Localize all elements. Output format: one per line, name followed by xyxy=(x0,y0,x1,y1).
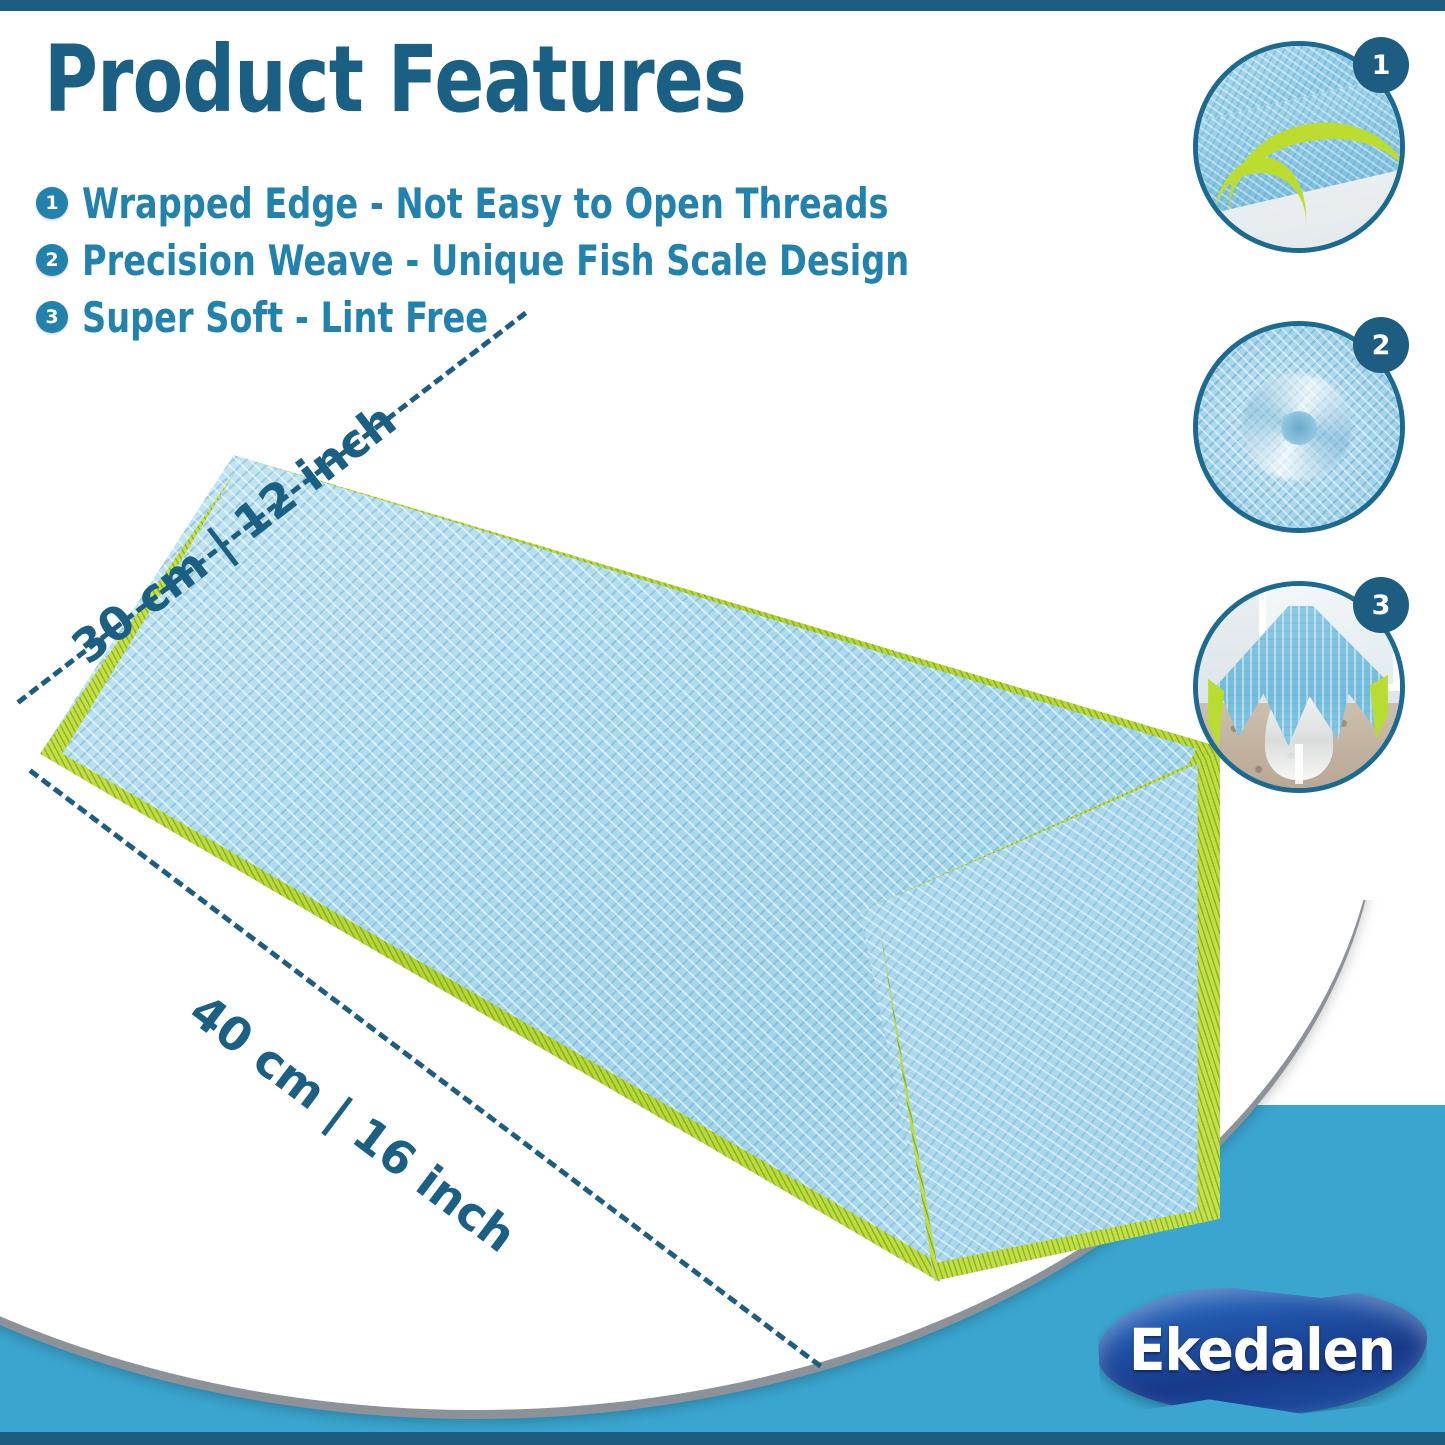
feature-photo-1: 1 xyxy=(1193,41,1405,253)
list-item: 3 Super Soft - Lint Free xyxy=(36,294,1116,340)
feature-list: 1 Wrapped Edge - Not Easy to Open Thread… xyxy=(36,180,1116,351)
bullet-label: Super Soft - Lint Free xyxy=(82,293,488,342)
bullet-label: Wrapped Edge - Not Easy to Open Threads xyxy=(82,179,889,228)
list-item: 1 Wrapped Edge - Not Easy to Open Thread… xyxy=(36,180,1116,226)
brand-name: Ekedalen xyxy=(1110,1285,1414,1415)
bullet-number-badge: 3 xyxy=(36,301,68,333)
list-item: 2 Precision Weave - Unique Fish Scale De… xyxy=(36,237,1116,283)
swirl-center xyxy=(1281,411,1317,445)
page-title: Product Features xyxy=(44,34,746,126)
infographic-page: Product Features 1 Wrapped Edge - Not Ea… xyxy=(0,0,1445,1445)
frame-border-bottom xyxy=(0,1432,1445,1445)
frame-border-top xyxy=(0,0,1445,11)
bullet-number-badge: 2 xyxy=(36,244,68,276)
feature-photo-3: 3 xyxy=(1193,581,1405,793)
brand-logo: Ekedalen xyxy=(1097,1285,1427,1415)
photo-number-badge: 2 xyxy=(1353,317,1409,373)
photo-number-badge: 3 xyxy=(1353,577,1409,633)
page-header: Product Features xyxy=(44,34,922,126)
photo-number-badge: 1 xyxy=(1353,37,1409,93)
wine-glass-stem xyxy=(1295,744,1303,784)
bullet-number-badge: 1 xyxy=(36,187,68,219)
feature-photo-2: 2 xyxy=(1193,321,1405,533)
bullet-label: Precision Weave - Unique Fish Scale Desi… xyxy=(82,236,909,285)
